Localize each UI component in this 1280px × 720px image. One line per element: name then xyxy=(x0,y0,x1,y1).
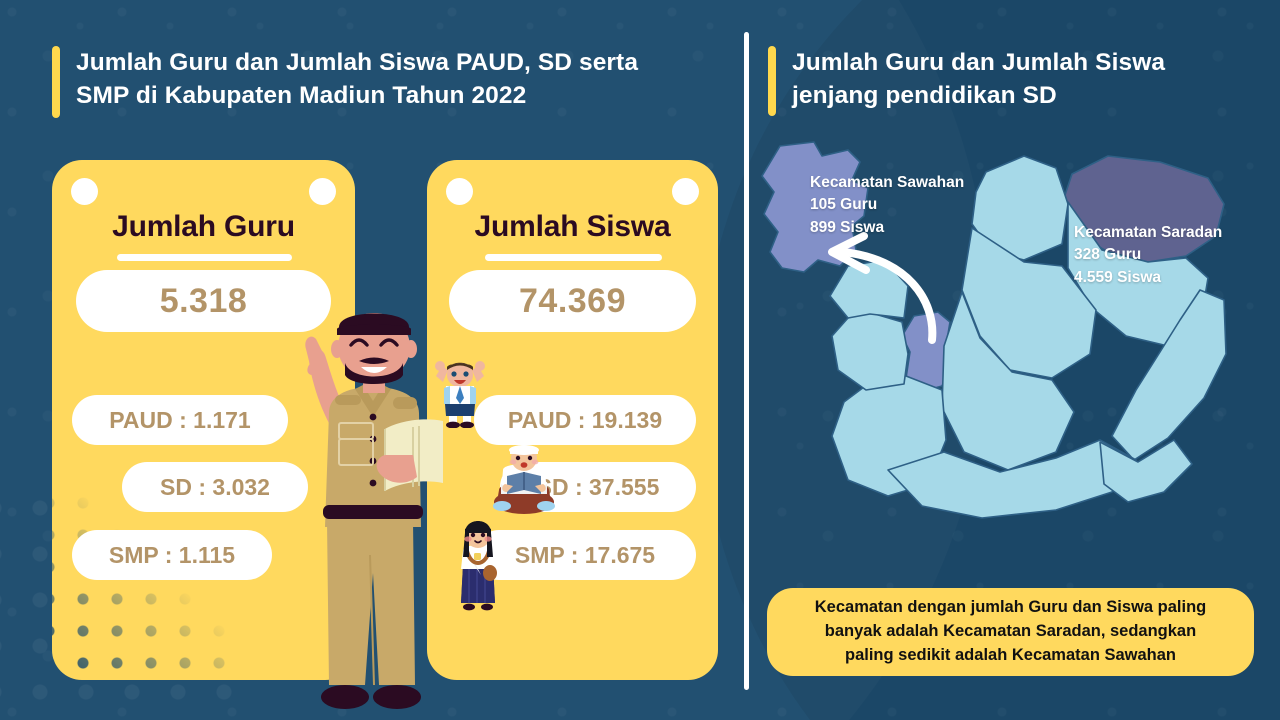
right-panel-title: Jumlah Guru dan Jumlah Siswa jenjang pen… xyxy=(792,46,1165,112)
siswa-paud-pill: PAUD : 19.139 xyxy=(474,395,696,445)
guru-smp-pill: SMP : 1.115 xyxy=(72,530,272,580)
map-region-west xyxy=(832,312,908,390)
right-panel-heading: Jumlah Guru dan Jumlah Siswa jenjang pen… xyxy=(768,46,1165,116)
card-title-guru: Jumlah Guru xyxy=(52,210,355,244)
left-panel-title: Jumlah Guru dan Jumlah Siswa PAUD, SD se… xyxy=(76,46,638,112)
heading-accent-bar xyxy=(52,46,60,118)
card-punch-hole-left xyxy=(71,178,98,205)
map-conclusion-note: Kecamatan dengan jumlah Guru dan Siswa p… xyxy=(767,588,1254,676)
card-punch-hole-left xyxy=(446,178,473,205)
student-boy-illustration xyxy=(428,358,492,428)
student-reciting-illustration xyxy=(489,440,559,516)
card-title-underline xyxy=(117,254,292,261)
siswa-smp-pill: SMP : 17.675 xyxy=(474,530,696,580)
heading-accent-bar xyxy=(768,46,776,116)
card-title-siswa: Jumlah Siswa xyxy=(427,210,718,244)
map-conclusion-text: Kecamatan dengan jumlah Guru dan Siswa p… xyxy=(801,596,1221,668)
student-girl-illustration xyxy=(449,515,507,615)
map-label-sawahan: Kecamatan Sawahan 105 Guru 899 Siswa xyxy=(810,172,964,239)
left-panel-heading: Jumlah Guru dan Jumlah Siswa PAUD, SD se… xyxy=(52,46,638,118)
siswa-total-pill: 74.369 xyxy=(449,270,696,332)
card-dot-pattern xyxy=(52,496,242,680)
card-punch-hole-right xyxy=(309,178,336,205)
guru-paud-pill: PAUD : 1.171 xyxy=(72,395,288,445)
card-punch-hole-right xyxy=(672,178,699,205)
card-title-underline xyxy=(485,254,662,261)
panel-divider xyxy=(744,32,749,690)
map-label-saradan: Kecamatan Saradan 328 Guru 4.559 Siswa xyxy=(1074,222,1222,289)
